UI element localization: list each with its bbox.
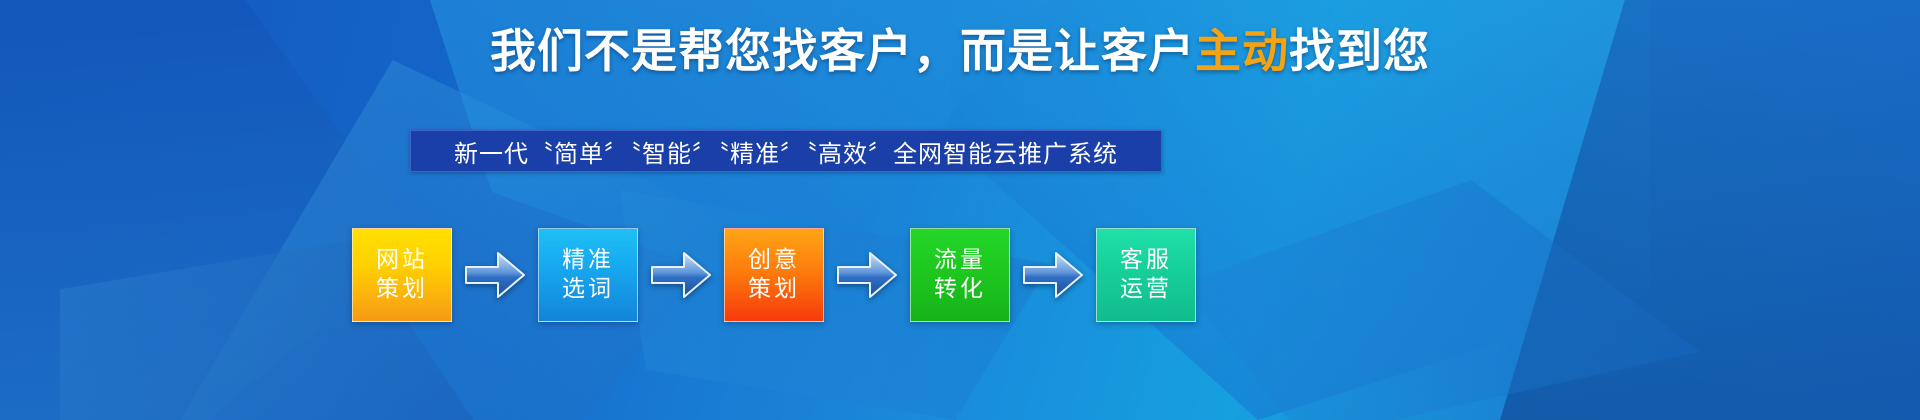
flow-step-creative-planning[interactable]: 创意 策划 <box>724 228 824 322</box>
flow-step-customer-service[interactable]: 客服 运营 <box>1096 228 1196 322</box>
background-facet <box>1180 180 1700 420</box>
headline-text-part1: 我们不是帮您找客户，而是让客户 <box>490 24 1195 78</box>
subtitle-text: 新一代〝简单〞〝智能〞〝精准〞〝高效〞全网智能云推广系统 <box>454 134 1118 169</box>
headline-text-part2: 找到您 <box>1289 24 1430 78</box>
arrow-right-icon <box>1022 249 1084 301</box>
flow-step-label-line2: 选词 <box>562 275 614 304</box>
flow-step-traffic-conversion[interactable]: 流量 转化 <box>910 228 1010 322</box>
process-flow: 网站 策划 精准 选词 <box>352 228 1196 322</box>
headline-highlight: 主动 <box>1195 24 1289 78</box>
arrow-right-icon <box>464 249 526 301</box>
flow-step-label-line2: 运营 <box>1120 275 1172 304</box>
flow-step-label-line1: 网站 <box>376 246 428 275</box>
arrow-right-icon <box>836 249 898 301</box>
flow-step-label-line1: 创意 <box>748 246 800 275</box>
flow-step-label-line2: 策划 <box>376 275 428 304</box>
banner-headline: 我们不是帮您找客户，而是让客户主动找到您 <box>0 22 1920 82</box>
flow-step-label-line2: 策划 <box>748 275 800 304</box>
flow-step-label-line1: 流量 <box>934 246 986 275</box>
flow-step-label-line1: 精准 <box>562 246 614 275</box>
promo-banner: 我们不是帮您找客户，而是让客户主动找到您 新一代〝简单〞〝智能〞〝精准〞〝高效〞… <box>0 0 1920 420</box>
arrow-right-icon <box>650 249 712 301</box>
flow-step-label-line2: 转化 <box>934 275 986 304</box>
flow-step-website-planning[interactable]: 网站 策划 <box>352 228 452 322</box>
subtitle-bar: 新一代〝简单〞〝智能〞〝精准〞〝高效〞全网智能云推广系统 <box>410 130 1162 172</box>
flow-step-label-line1: 客服 <box>1120 246 1172 275</box>
flow-step-keyword-selection[interactable]: 精准 选词 <box>538 228 638 322</box>
